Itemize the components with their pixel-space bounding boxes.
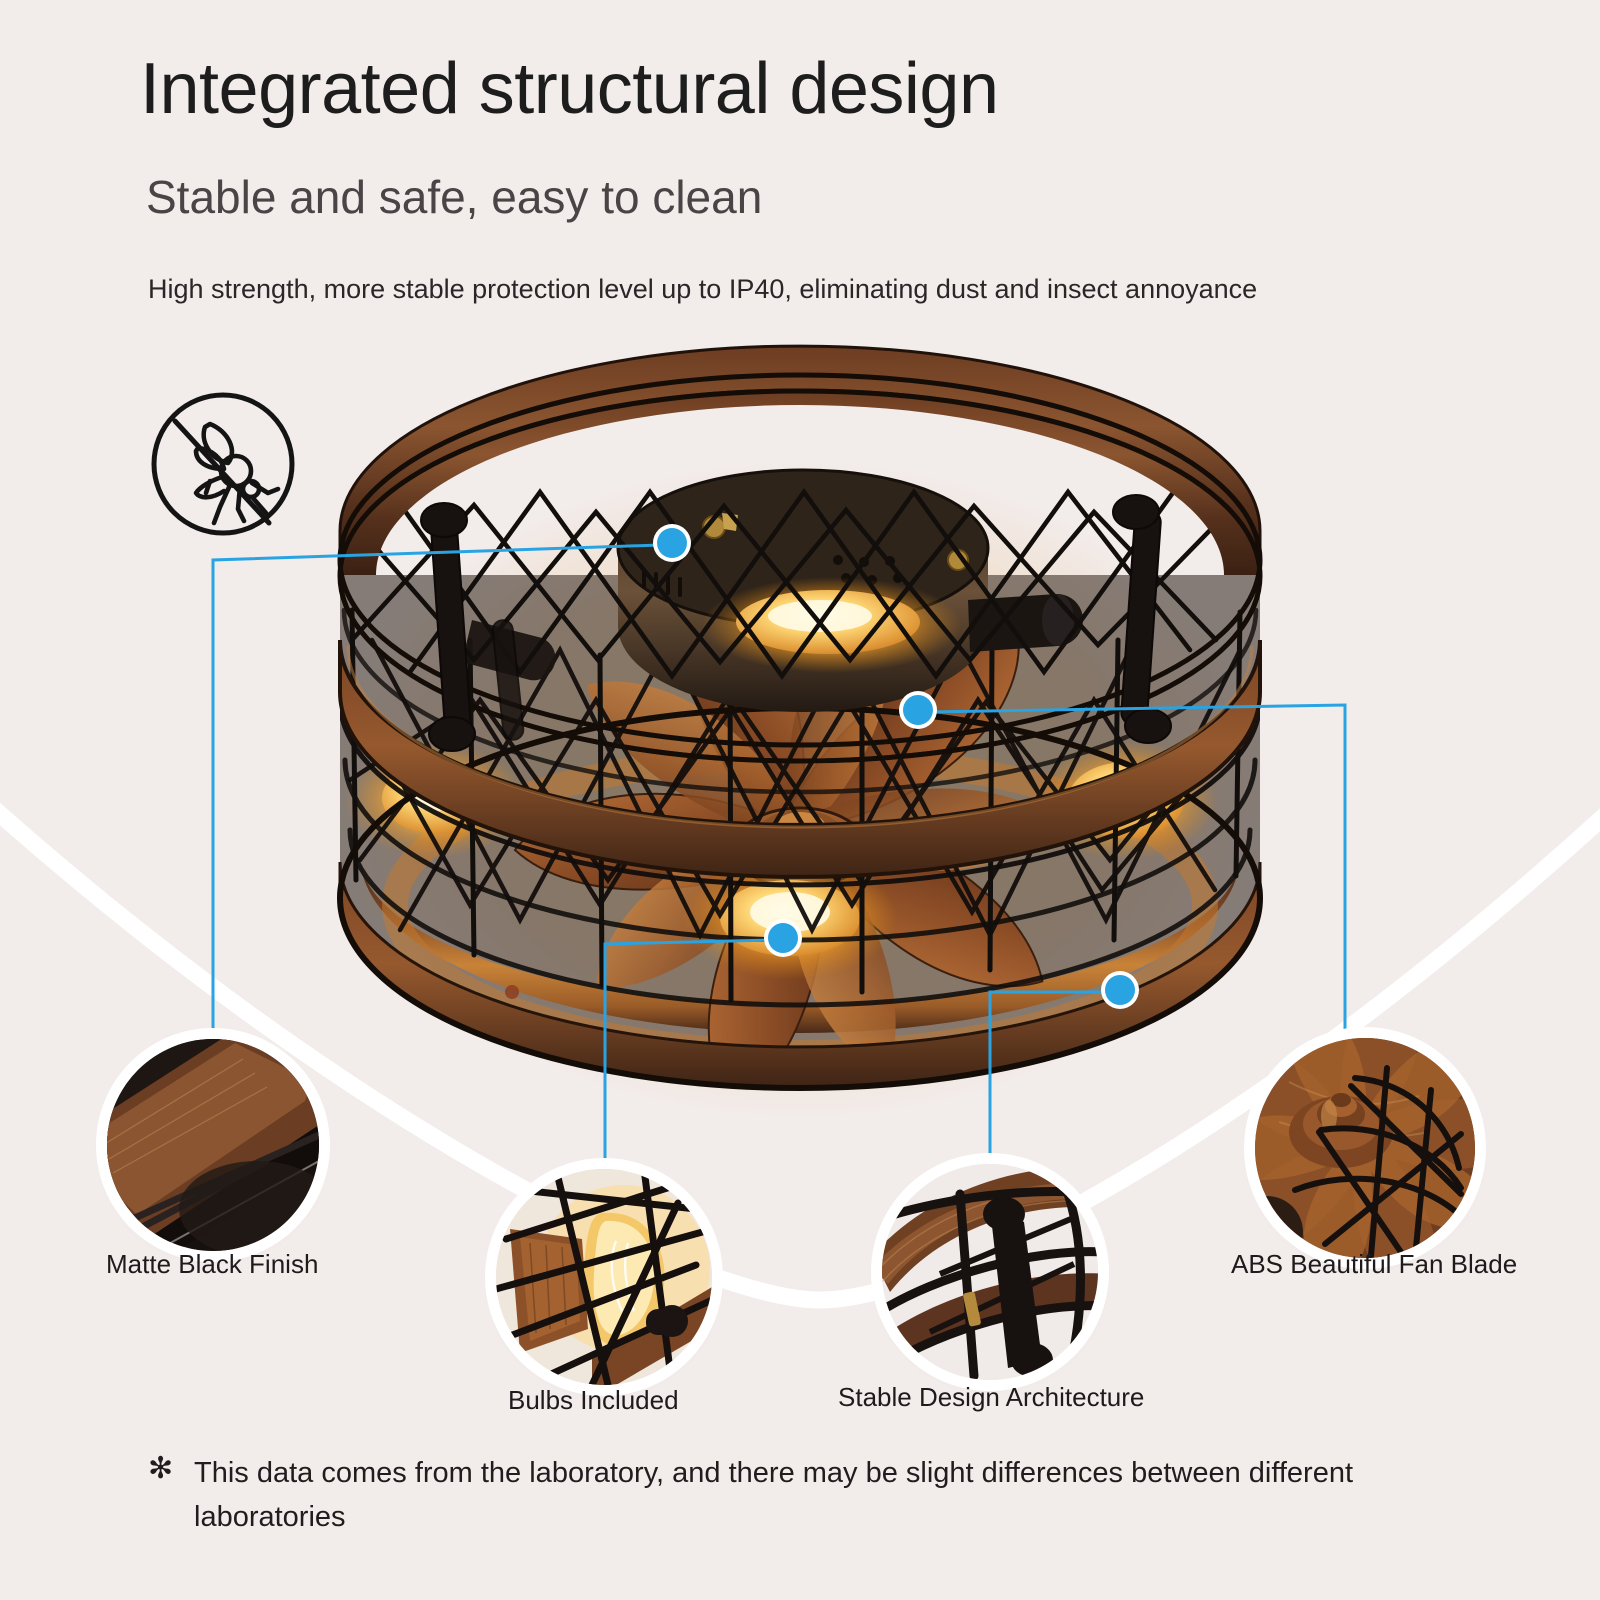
detail-bubble-bulbs-included <box>496 1169 712 1385</box>
detail-bubble-stable-design-architecture <box>882 1164 1098 1380</box>
callout-connectors <box>0 0 1600 1600</box>
callout-label-abs-beautiful-fan-blade: ABS Beautiful Fan Blade <box>1231 1249 1517 1280</box>
page-title: Integrated structural design <box>140 52 999 128</box>
infographic-canvas: Integrated structural design Stable and … <box>0 0 1600 1600</box>
callout-dot-group <box>653 524 1139 1009</box>
footnote-text: This data comes from the laboratory, and… <box>194 1452 1458 1539</box>
callout-label-stable-design: Stable Design Architecture <box>838 1382 1144 1413</box>
footnote-asterisk-icon: ✻ <box>148 1454 173 1484</box>
footnote: ✻ This data comes from the laboratory, a… <box>148 1452 1458 1539</box>
callout-label-bulbs-included: Bulbs Included <box>508 1385 679 1416</box>
detail-bubble-matte-black-finish <box>107 1039 319 1251</box>
callout-label-matte-black-finish: Matte Black Finish <box>106 1249 318 1280</box>
page-subtitle: Stable and safe, easy to clean <box>146 172 762 223</box>
detail-bubble-abs-fan-blade <box>1255 1038 1475 1258</box>
page-description: High strength, more stable protection le… <box>148 270 1418 308</box>
